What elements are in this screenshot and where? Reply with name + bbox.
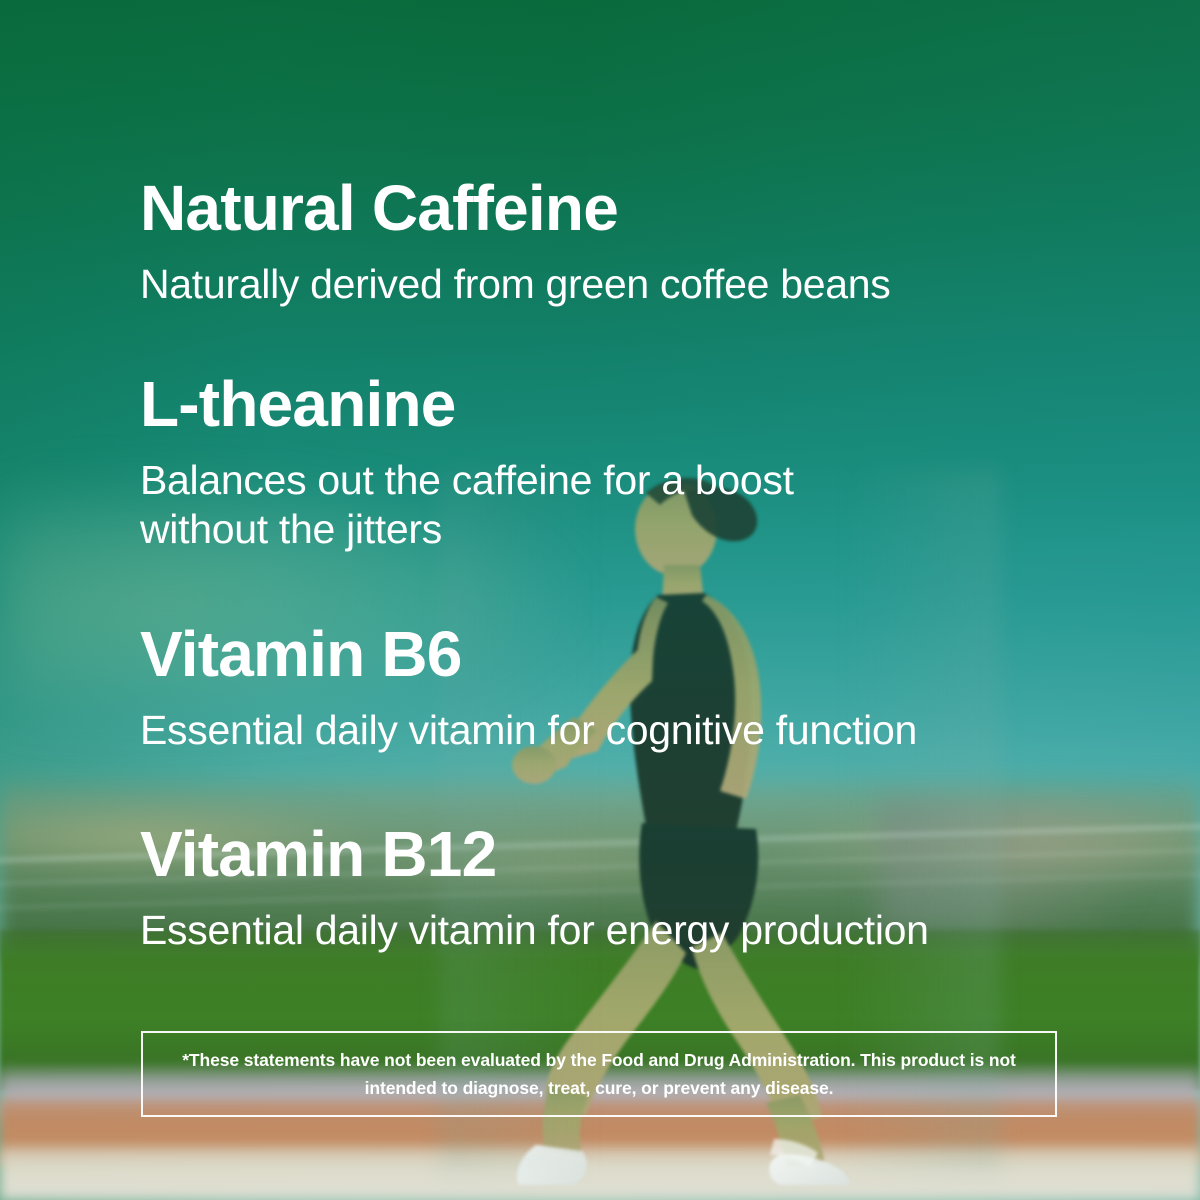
ingredient-title-vitamin-b12: Vitamin B12: [140, 822, 929, 886]
ingredient-block-l-theanine: L-theanine Balances out the caffeine for…: [140, 372, 900, 554]
ingredient-description-natural-caffeine: Naturally derived from green coffee bean…: [140, 260, 890, 309]
disclaimer-box: *These statements have not been evaluate…: [141, 1031, 1057, 1117]
disclaimer-text: *These statements have not been evaluate…: [179, 1046, 1019, 1103]
ingredient-title-l-theanine: L-theanine: [140, 372, 900, 436]
content-overlay: Natural Caffeine Naturally derived from …: [0, 0, 1200, 1200]
ingredient-description-l-theanine: Balances out the caffeine for a boost wi…: [140, 456, 900, 554]
ingredient-description-vitamin-b12: Essential daily vitamin for energy produ…: [140, 906, 929, 955]
ingredient-block-vitamin-b6: Vitamin B6 Essential daily vitamin for c…: [140, 622, 917, 755]
ingredient-title-natural-caffeine: Natural Caffeine: [140, 176, 890, 240]
ingredient-infographic: Natural Caffeine Naturally derived from …: [0, 0, 1200, 1200]
ingredient-description-vitamin-b6: Essential daily vitamin for cognitive fu…: [140, 706, 917, 755]
ingredient-block-vitamin-b12: Vitamin B12 Essential daily vitamin for …: [140, 822, 929, 955]
ingredient-block-natural-caffeine: Natural Caffeine Naturally derived from …: [140, 176, 890, 309]
ingredient-title-vitamin-b6: Vitamin B6: [140, 622, 917, 686]
